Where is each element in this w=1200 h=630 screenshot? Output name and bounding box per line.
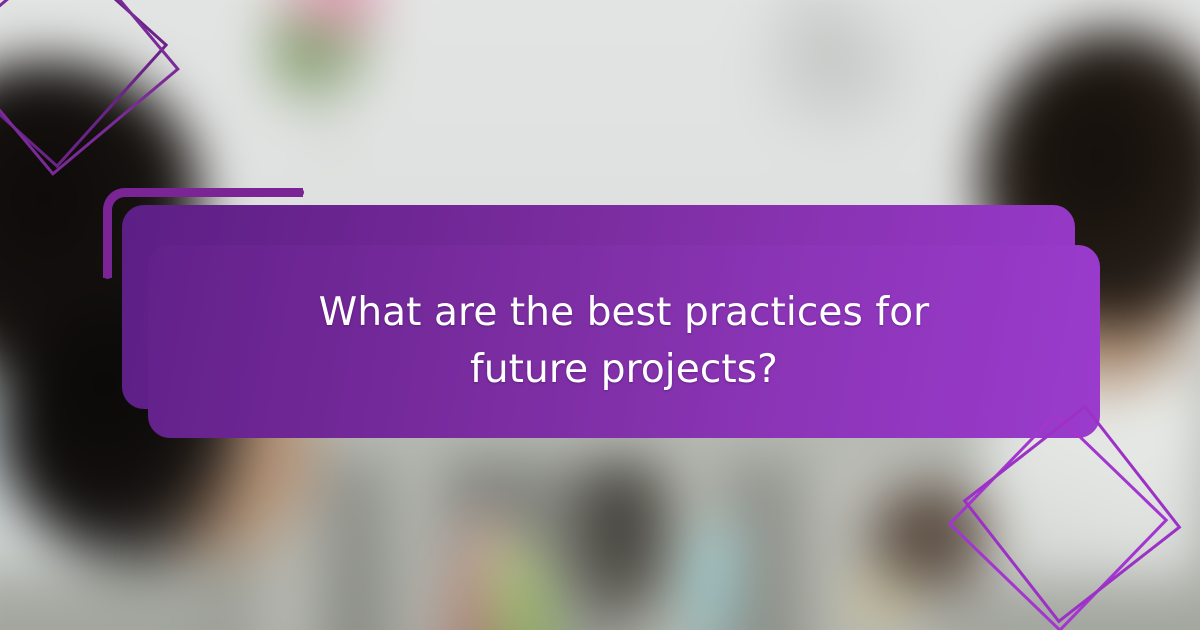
background-flower-core [312,0,382,40]
decoration-diamonds-bottom-right [960,422,1190,630]
decoration-diamonds-top-left [0,0,198,198]
rotated-square-outline-icon [963,405,1182,624]
page-title: What are the best practices for future p… [148,285,1100,398]
quote-card: What are the best practices for future p… [148,245,1100,438]
background-shelf-shadow [560,460,680,630]
rotated-square-outline-icon [0,0,180,176]
background-vase [324,50,336,160]
share-card-canvas: What are the best practices for future p… [0,0,1200,630]
background-lamp-shade [740,0,930,150]
